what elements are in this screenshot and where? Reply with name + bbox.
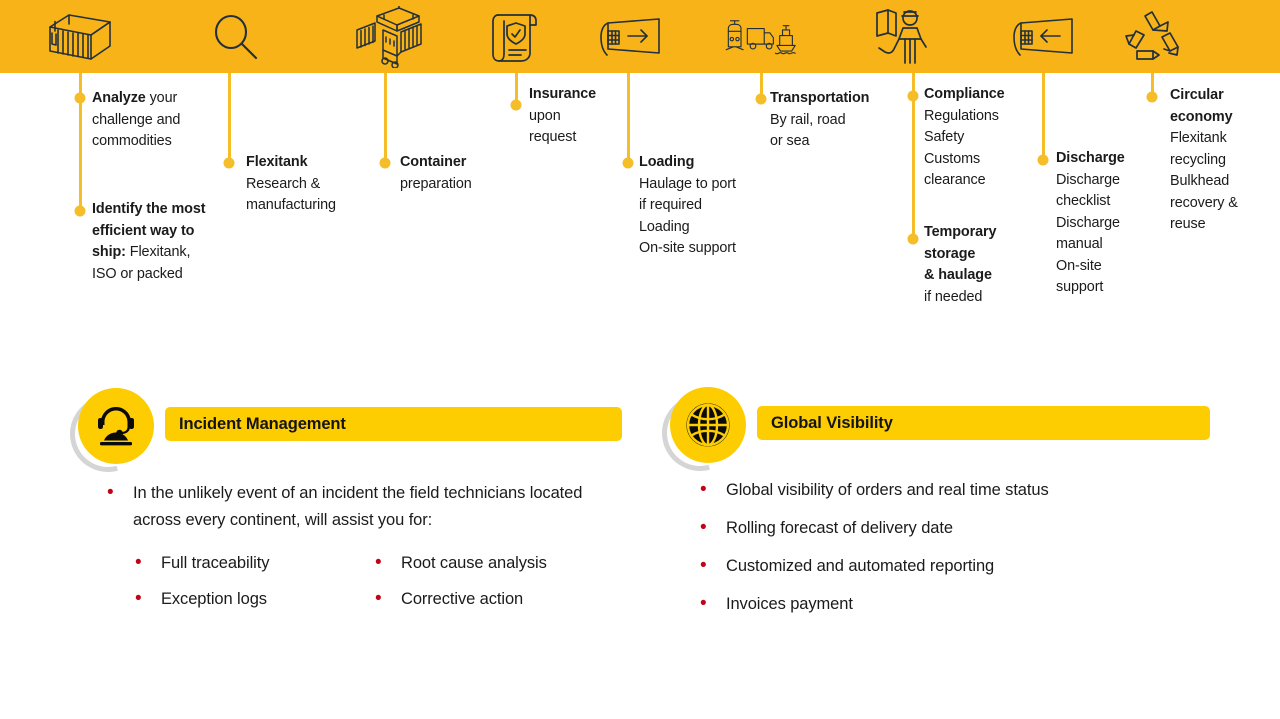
list-item: • Full traceability — [135, 550, 375, 577]
card-global-visibility: Global Visibility • Global visibility of… — [662, 387, 1222, 627]
list-item-text: Invoices payment — [726, 591, 1200, 618]
timeline-step-temporary-storage: Temporary storage & haulage if needed — [924, 222, 1039, 308]
step-title: Compliance — [924, 84, 1044, 106]
timeline-dot-temporary-storage — [908, 234, 919, 245]
insurance-document-shield-icon — [477, 7, 553, 67]
step-detail: Regulations — [924, 106, 1044, 128]
step-detail: Research & — [246, 174, 376, 196]
header-icon-band — [0, 0, 1280, 73]
bullet-icon: • — [700, 553, 726, 579]
step-detail: Bulkhead — [1170, 171, 1280, 193]
step-detail: manual — [1056, 234, 1161, 256]
timeline-step-analyze: Analyze your challenge and commodities — [92, 88, 242, 153]
step-detail: Safety — [924, 127, 1044, 149]
bullet-icon: • — [700, 591, 726, 617]
step-detail: On-site support — [639, 238, 774, 260]
list-item-text: Corrective action — [401, 586, 615, 613]
card-title: Global Visibility — [757, 414, 893, 433]
step-title: ship: — [92, 244, 126, 260]
step-title: Analyze — [92, 90, 146, 106]
global-bullet-list: • Global visibility of orders and real t… — [700, 477, 1200, 618]
global-badge — [662, 387, 746, 471]
step-title: Insurance — [529, 84, 629, 106]
customs-compliance-officer-icon — [865, 7, 941, 67]
bullet-icon: • — [375, 586, 401, 612]
timeline-step-container: Container preparation — [400, 152, 520, 195]
globe-world-icon — [670, 387, 746, 463]
list-item-text: In the unlikely event of an incident the… — [133, 480, 627, 534]
card-incident-management: Incident Management • In the unlikely ev… — [70, 388, 630, 628]
step-detail: Customs — [924, 149, 1044, 171]
list-item: • Invoices payment — [700, 591, 1200, 618]
card-title: Incident Management — [165, 415, 346, 434]
list-item-text: Exception logs — [161, 586, 375, 613]
step-detail: ISO or packed — [92, 264, 252, 286]
timeline-step-compliance: Compliance Regulations Safety Customs cl… — [924, 84, 1044, 192]
bullet-icon: • — [700, 477, 726, 503]
list-item-text: Root cause analysis — [401, 550, 615, 577]
list-item: • Global visibility of orders and real t… — [700, 477, 1200, 504]
timeline-step-circular-economy: Circular economy Flexitank recycling Bul… — [1170, 85, 1280, 236]
recycling-circular-economy-icon — [1114, 7, 1190, 67]
timeline-step-discharge: Discharge Discharge checklist Discharge … — [1056, 148, 1161, 299]
container-loading-arrow-right-icon — [592, 7, 668, 67]
timeline-dot-circular-economy — [1147, 92, 1158, 103]
timeline-dot-flexitank — [224, 158, 235, 169]
incident-badge — [70, 388, 154, 472]
timeline-dot-insurance — [511, 100, 522, 111]
connector-line — [384, 73, 387, 163]
timeline-dot-analyze — [75, 93, 86, 104]
step-detail: if required — [639, 195, 774, 217]
timeline-step-flexitank: Flexitank Research & manufacturing — [246, 152, 376, 217]
step-title: & haulage — [924, 265, 1039, 287]
step-detail: challenge and — [92, 110, 242, 132]
list-item: • In the unlikely event of an incident t… — [107, 480, 627, 534]
step-detail: On-site — [1056, 256, 1161, 278]
step-title: storage — [924, 244, 1039, 266]
step-detail: manufacturing — [246, 195, 376, 217]
step-detail: commodities — [92, 131, 242, 153]
list-item-text: Global visibility of orders and real tim… — [726, 477, 1200, 504]
step-title: Loading — [639, 152, 774, 174]
step-title: efficient way to — [92, 221, 252, 243]
timeline-step-transportation: Transportation By rail, road or sea — [770, 88, 910, 153]
step-title: Circular — [1170, 85, 1280, 107]
step-title: Identify the most — [92, 199, 252, 221]
timeline-dot-transportation — [756, 94, 767, 105]
list-item: • Customized and automated reporting — [700, 553, 1200, 580]
incident-intro-list: • In the unlikely event of an incident t… — [107, 480, 627, 534]
list-item: • Rolling forecast of delivery date — [700, 515, 1200, 542]
step-title: Flexitank — [246, 152, 376, 174]
list-item-text: Rolling forecast of delivery date — [726, 515, 1200, 542]
step-detail: recycling — [1170, 150, 1280, 172]
incident-sub-left: • Full traceability • Exception logs — [135, 550, 375, 613]
step-detail: Discharge — [1056, 213, 1161, 235]
step-detail: or sea — [770, 131, 910, 153]
step-detail: request — [529, 127, 629, 149]
step-title: Transportation — [770, 88, 910, 110]
step-title: Temporary — [924, 222, 1039, 244]
timeline-dot-identify — [75, 206, 86, 217]
bullet-icon: • — [700, 515, 726, 541]
step-detail: By rail, road — [770, 110, 910, 132]
bullet-icon: • — [135, 550, 161, 576]
step-detail: checklist — [1056, 191, 1161, 213]
flexitank-manufacturing-icon — [352, 7, 428, 67]
timeline-step-identify: Identify the most efficient way to ship:… — [92, 199, 252, 285]
step-title: Container — [400, 152, 520, 174]
incident-sub-lists: • Full traceability • Exception logs • R… — [135, 550, 625, 613]
step-detail: Haulage to port — [639, 174, 774, 196]
step-detail: preparation — [400, 174, 520, 196]
bullet-icon: • — [375, 550, 401, 576]
list-item: • Root cause analysis — [375, 550, 615, 577]
list-item: • Exception logs — [135, 586, 375, 613]
rail-road-sea-transport-icon — [722, 7, 798, 67]
step-title: Discharge — [1056, 148, 1161, 170]
timeline-step-loading: Loading Haulage to port if required Load… — [639, 152, 774, 260]
timeline-step-insurance: Insurance upon request — [529, 84, 629, 149]
step-title: economy — [1170, 107, 1280, 129]
incident-title-bar: Incident Management — [165, 407, 622, 441]
list-item-text: Customized and automated reporting — [726, 553, 1200, 580]
step-detail: upon — [529, 106, 629, 128]
list-item: • Corrective action — [375, 586, 615, 613]
timeline-dot-container — [380, 158, 391, 169]
step-detail: reuse — [1170, 214, 1280, 236]
incident-sub-right: • Root cause analysis • Corrective actio… — [375, 550, 615, 613]
step-detail: Discharge — [1056, 170, 1161, 192]
bullet-icon: • — [135, 586, 161, 612]
step-detail: if needed — [924, 287, 1039, 309]
step-detail: recovery & — [1170, 193, 1280, 215]
global-title-bar: Global Visibility — [757, 406, 1210, 440]
bullet-icon: • — [107, 480, 133, 506]
container-discharge-arrow-left-icon — [1005, 7, 1081, 67]
connector-line — [79, 98, 82, 211]
shipping-container-icon — [42, 7, 118, 67]
step-detail: Flexitank — [1170, 128, 1280, 150]
magnifier-search-icon — [197, 7, 273, 67]
step-detail: Loading — [639, 217, 774, 239]
step-detail: clearance — [924, 170, 1044, 192]
timeline-dot-loading — [623, 158, 634, 169]
step-detail: support — [1056, 277, 1161, 299]
headset-support-agent-icon — [78, 388, 154, 464]
list-item-text: Full traceability — [161, 550, 375, 577]
connector-line — [912, 96, 915, 239]
